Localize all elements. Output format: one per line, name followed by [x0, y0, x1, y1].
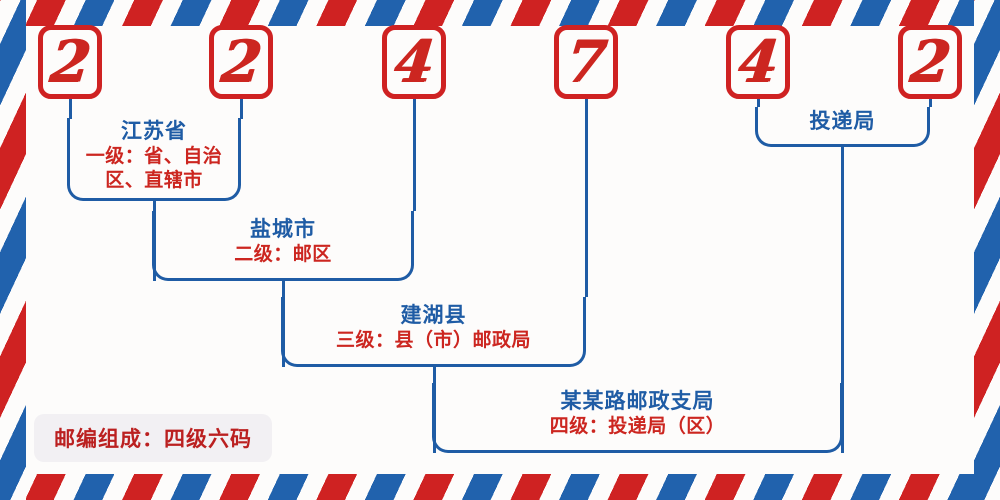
stem-digit-2 — [240, 99, 243, 119]
level-2-labels: 盐城市 二级：邮区 — [152, 216, 414, 266]
postcode-infographic: 2 2 4 7 4 2 江苏省 一级：省、自治区、直辖市 盐城市 二级：邮区 建… — [0, 0, 1000, 500]
level-2-subtitle: 二级：邮区 — [152, 242, 414, 267]
postcode-digit-2: 2 — [209, 25, 273, 99]
postcode-digit-1: 2 — [38, 25, 102, 99]
level-4-labels: 某某路邮政支局 四级：投递局（区） — [432, 388, 843, 438]
level-1-title: 江苏省 — [67, 118, 241, 144]
level-3-title: 建湖县 — [281, 302, 586, 328]
envelope-border-bottom — [0, 474, 1000, 500]
envelope-border-right — [974, 0, 1000, 500]
digit-glyph: 2 — [48, 33, 92, 91]
postcode-digit-4: 7 — [554, 25, 618, 99]
level-3-labels: 建湖县 三级：县（市）邮政局 — [281, 302, 586, 352]
level-3-subtitle: 三级：县（市）邮政局 — [281, 328, 586, 353]
digit-glyph: 2 — [908, 33, 952, 91]
level-4-subtitle: 四级：投递局（区） — [432, 414, 843, 439]
digit-glyph: 4 — [736, 33, 780, 91]
stem-digit-6 — [929, 99, 932, 107]
stem-digit-4 — [585, 99, 588, 297]
postcode-digit-6: 2 — [898, 25, 962, 99]
stripe-pattern — [974, 0, 1000, 500]
delivery-office-title: 投递局 — [755, 108, 930, 134]
stripe-pattern — [0, 0, 26, 500]
digit-glyph: 4 — [392, 33, 436, 91]
envelope-border-left — [0, 0, 26, 500]
stripe-pattern — [0, 474, 1000, 500]
stem-digit-5 — [757, 99, 760, 107]
stem-digit-1 — [69, 99, 72, 119]
postcode-digit-5: 4 — [726, 25, 790, 99]
postcode-digit-3: 4 — [382, 25, 446, 99]
stem-digit-3 — [413, 99, 416, 211]
digit-glyph: 2 — [219, 33, 263, 91]
level-1-subtitle: 一级：省、自治区、直辖市 — [67, 144, 241, 193]
postcode-composition-badge: 邮编组成：四级六码 — [34, 414, 272, 462]
level-1-labels: 江苏省 一级：省、自治区、直辖市 — [67, 118, 241, 193]
stripe-pattern — [0, 0, 1000, 26]
digit-glyph: 7 — [564, 33, 608, 91]
level-2-title: 盐城市 — [152, 216, 414, 242]
delivery-office-labels: 投递局 — [755, 108, 930, 134]
level-4-title: 某某路邮政支局 — [432, 388, 843, 414]
envelope-border-top — [0, 0, 1000, 26]
